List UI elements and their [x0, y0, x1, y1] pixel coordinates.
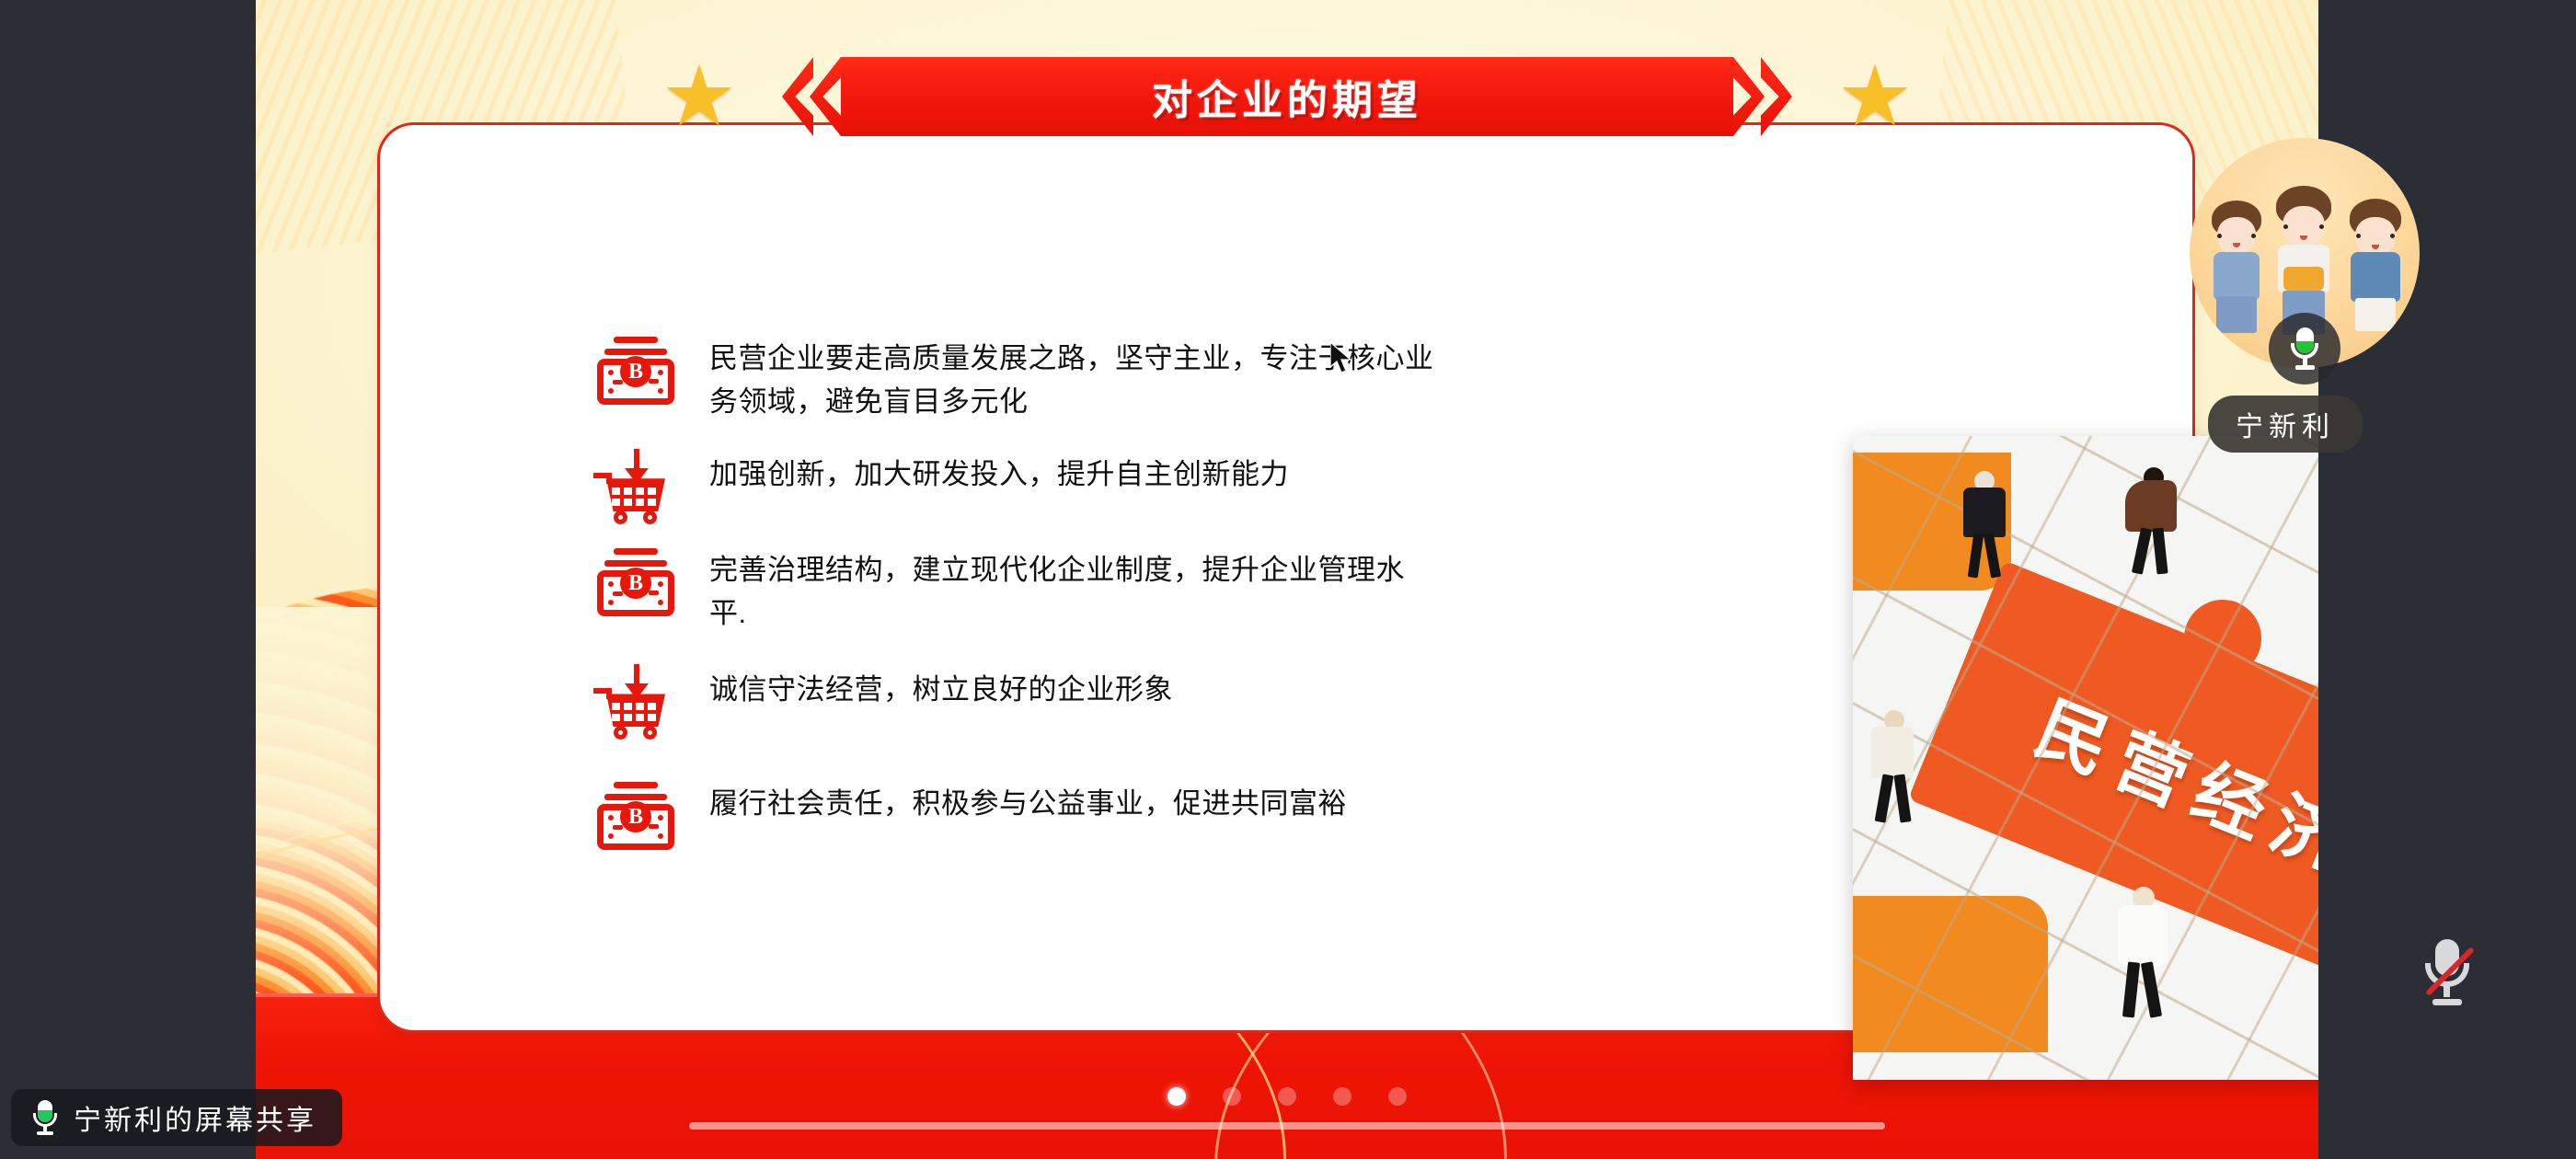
- shared-screen-slide[interactable]: B 民营企业要走高质量发展之路，坚守主业，专注于核心业务领域，避免盲目多元化: [256, 0, 2318, 1159]
- pagination-dot[interactable]: [1333, 1087, 1351, 1106]
- microphone-active-icon: [31, 1100, 59, 1135]
- pagination-dot[interactable]: [1388, 1087, 1407, 1106]
- horizontal-scrollbar[interactable]: [689, 1122, 1885, 1130]
- puzzle-piece-orange: [1853, 896, 2048, 1052]
- shopping-cart-icon: [593, 445, 678, 530]
- microphone-active-icon: [2269, 313, 2340, 384]
- money-bitcoin-icon: B: [593, 329, 678, 414]
- shopping-cart-icon: [593, 660, 678, 745]
- screen-share-indicator[interactable]: 宁新利的屏幕共享: [11, 1089, 342, 1146]
- participant-name-chip: 宁新利: [2208, 396, 2363, 453]
- bullet-text: 诚信守法经营，树立良好的企业形象: [709, 660, 1173, 711]
- mute-toggle-button[interactable]: [2405, 929, 2490, 1014]
- participant-tile[interactable]: [2190, 138, 2420, 368]
- bullet-text: 履行社会责任，积极参与公益事业，促进共同富裕: [709, 775, 1347, 825]
- slide-content-card: B 民营企业要走高质量发展之路，坚守主业，专注于核心业务领域，避免盲目多元化: [377, 122, 2195, 1033]
- microphone-muted-icon: [2421, 937, 2473, 1005]
- chevron-left-icon: [782, 57, 839, 136]
- screen: B 民营企业要走高质量发展之路，坚守主业，专注于核心业务领域，避免盲目多元化: [0, 0, 2576, 1159]
- money-bitcoin-icon: B: [593, 775, 678, 859]
- figurine: [2122, 467, 2186, 576]
- bullet-list: B 民营企业要走高质量发展之路，坚守主业，专注于核心业务领域，避免盲目多元化: [593, 329, 1440, 866]
- avatar-child: [2206, 197, 2267, 353]
- pagination-dot[interactable]: [1223, 1087, 1241, 1106]
- bullet-item: B 完善治理结构，建立现代化企业制度，提升企业管理水平.: [593, 541, 1440, 635]
- mouse-pointer-icon: [1330, 342, 1354, 377]
- bullet-text: 完善治理结构，建立现代化企业制度，提升企业管理水平.: [709, 541, 1440, 635]
- bullet-item: B 履行社会责任，积极参与公益事业，促进共同富裕: [593, 775, 1440, 859]
- figurine: [1956, 471, 2013, 579]
- screen-share-label: 宁新利的屏幕共享: [74, 1097, 316, 1138]
- star-icon-left: ★: [661, 58, 738, 135]
- money-bitcoin-icon: B: [593, 541, 678, 625]
- puzzle-businessmen-photo: 民营经济: [1853, 436, 2318, 1080]
- bullet-item: 加强创新，加大研发投入，提升自主创新能力: [593, 445, 1440, 530]
- bullet-item: 诚信守法经营，树立良好的企业形象: [593, 660, 1440, 745]
- page-title: 对企业的期望: [1152, 67, 1422, 126]
- figurine: [2109, 887, 2177, 1025]
- figurine: [1868, 710, 1925, 830]
- star-icon-right: ★: [1836, 58, 1914, 135]
- participant-rail: 宁新利: [2318, 0, 2576, 1159]
- bullet-item: B 民营企业要走高质量发展之路，坚守主业，专注于核心业务领域，避免盲目多元化: [593, 329, 1440, 423]
- pagination-dot[interactable]: [1278, 1087, 1296, 1106]
- chevron-right-icon: [1735, 57, 1792, 136]
- slide-title-banner: ★ 对企业的期望 ★: [740, 57, 1834, 136]
- avatar-child: [2344, 195, 2407, 353]
- bullet-text: 加强创新，加大研发投入，提升自主创新能力: [709, 445, 1289, 496]
- pagination-dot[interactable]: [1167, 1087, 1186, 1106]
- pagination-dots[interactable]: [1167, 1087, 1407, 1106]
- scrollbar-thumb[interactable]: [689, 1122, 1885, 1130]
